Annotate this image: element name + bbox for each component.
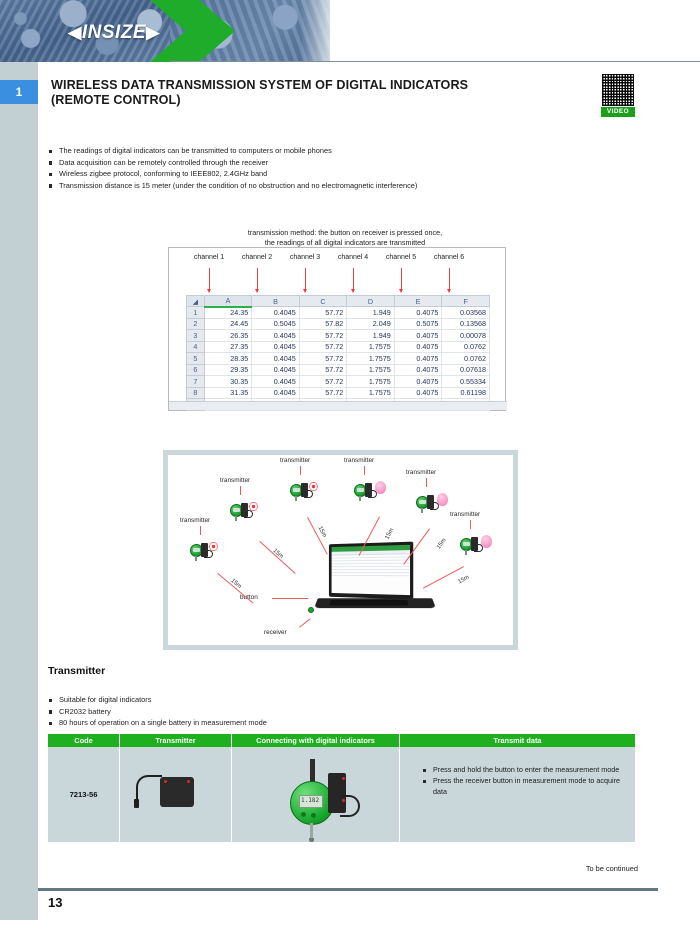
spreadsheet-cell-A6[interactable]: 29.35	[204, 364, 251, 376]
wireless-signal-icon: ⦿	[249, 500, 258, 513]
spreadsheet-cell-C8[interactable]: 57.72	[299, 387, 346, 399]
spreadsheet-cell-F1[interactable]: 0.03568	[442, 307, 490, 319]
spreadsheet-cell-D8[interactable]: 1.7575	[347, 387, 395, 399]
spreadsheet-cell-A3[interactable]: 26.35	[204, 330, 251, 342]
list-item: Press and hold the button to enter the m…	[422, 765, 635, 775]
spreadsheet-row: 831.350.404557.721.75750.40750.61198	[187, 387, 490, 399]
channel-label: channel 6	[425, 254, 473, 261]
spreadsheet-cell-A7[interactable]: 30.35	[204, 376, 251, 388]
channel-label: channel 5	[377, 254, 425, 261]
section-title-transmitter: Transmitter	[48, 665, 105, 677]
channel-label: channel 1	[185, 254, 233, 261]
spreadsheet-cell-F2[interactable]: 0.13568	[442, 318, 490, 330]
list-item: Press the receiver button in measurement…	[422, 776, 635, 797]
spreadsheet-row: 124.350.404557.721.9490.40750.03568	[187, 307, 490, 319]
spreadsheet-cell-A1[interactable]: 24.35	[204, 307, 251, 319]
spreadsheet-cell-E3[interactable]: 0.4075	[394, 330, 442, 342]
cell-transmit-data: Press and hold the button to enter the m…	[400, 747, 635, 842]
indicator-probe	[465, 550, 467, 555]
spreadsheet-cell-A4[interactable]: 27.35	[204, 341, 251, 353]
logo-right-arrow-icon: ▶	[146, 23, 160, 43]
laptop-base	[314, 598, 436, 608]
indicator-probe	[310, 823, 313, 839]
left-margin-strip	[0, 62, 38, 920]
transmitter-label: transmitter	[280, 457, 310, 464]
page-title: WIRELESS DATA TRANSMISSION SYSTEM OF DIG…	[51, 78, 521, 108]
logo-left-arrow-icon: ◀	[68, 23, 82, 43]
spreadsheet-column-header-A[interactable]: A	[204, 296, 251, 307]
list-item: CR2032 battery	[48, 707, 448, 718]
spreadsheet-cell-D5[interactable]: 1.7575	[347, 353, 395, 365]
spreadsheet-cell-B2[interactable]: 0.5045	[252, 318, 300, 330]
banner-divider	[170, 61, 700, 62]
receiver-device	[308, 607, 314, 613]
spreadsheet-cell-C4[interactable]: 57.72	[299, 341, 346, 353]
wireless-signal-icon: ⦿	[209, 540, 218, 553]
transmitter-feature-list: Suitable for digital indicators CR2032 b…	[48, 695, 448, 730]
transmitter-leader-line	[470, 520, 471, 529]
transmitter-label: transmitter	[180, 517, 210, 524]
spreadsheet-cell-E6[interactable]: 0.4075	[394, 364, 442, 376]
spreadsheet-cell-D6[interactable]: 1.7575	[347, 364, 395, 376]
column-header-code: Code	[48, 734, 120, 747]
spreadsheet-cell-D7[interactable]: 1.7575	[347, 376, 395, 388]
qr-code-icon	[601, 73, 635, 107]
spreadsheet-cell-A8[interactable]: 31.35	[204, 387, 251, 399]
network-diagram: button receiver transmitter⦿transmitter⦿…	[163, 450, 518, 650]
channel-pointer-arrow-icon	[257, 268, 258, 290]
led-indicator-icon	[342, 777, 345, 780]
product-table-header: Code Transmitter Connecting with digital…	[48, 734, 635, 747]
distance-label: 15m	[436, 538, 448, 551]
spreadsheet-cell-B8[interactable]: 0.4045	[252, 387, 300, 399]
spreadsheet-cell-B7[interactable]: 0.4045	[252, 376, 300, 388]
video-badge-label: VIDEO	[601, 107, 635, 117]
spreadsheet-cell-D4[interactable]: 1.7575	[347, 341, 395, 353]
transmitter-leader-line	[426, 478, 427, 487]
spreadsheet-corner-cell[interactable]: ◢	[187, 296, 205, 307]
channel-pointer-arrow-icon	[305, 268, 306, 290]
list-item: Data acquisition can be remotely control…	[48, 158, 468, 169]
distance-label: 15m	[229, 578, 242, 590]
spreadsheet-cell-E1[interactable]: 0.4075	[394, 307, 442, 319]
transmitter-leader-line	[240, 486, 241, 495]
channel-label-row: channel 1channel 2channel 3channel 4chan…	[169, 254, 507, 268]
spreadsheet-cell-F3[interactable]: 0.00078	[442, 330, 490, 342]
wireless-signal-icon: ⦿	[309, 480, 318, 493]
spreadsheet-row-header[interactable]: 3	[187, 330, 205, 342]
spreadsheet-row-header[interactable]: 2	[187, 318, 205, 330]
indicator-probe	[295, 496, 297, 501]
page-title-line2: (REMOTE CONTROL)	[51, 93, 521, 108]
logo-text: INSIZE	[82, 22, 146, 44]
spreadsheet-row: 528.350.404557.721.75750.40750.0762	[187, 353, 490, 365]
spreadsheet-column-header-D[interactable]: D	[347, 296, 395, 307]
transmitter-cable	[136, 775, 162, 801]
spreadsheet-cell-E8[interactable]: 0.4075	[394, 387, 442, 399]
table-row: 7213-56 1.182	[48, 747, 635, 842]
measurement-target-icon	[437, 493, 448, 506]
spreadsheet-row: 427.350.404557.721.75750.40750.0762	[187, 341, 490, 353]
spreadsheet-row-header[interactable]: 4	[187, 341, 205, 353]
spreadsheet-table: ◢ABCDEF 124.350.404557.721.9490.40750.03…	[186, 295, 490, 411]
spreadsheet-cell-A5[interactable]: 28.35	[204, 353, 251, 365]
column-header-transmitter: Transmitter	[120, 734, 232, 747]
distance-label: 15m	[384, 527, 395, 540]
indicator-lcd	[463, 542, 470, 546]
transmitter-device-icon	[460, 537, 482, 553]
spreadsheet-figure: channel 1channel 2channel 3channel 4chan…	[168, 247, 506, 411]
measurement-target-icon	[375, 481, 386, 494]
channel-label: channel 4	[329, 254, 377, 261]
spreadsheet-caption-line1: transmission method: the button on recei…	[180, 228, 510, 238]
list-item: Wireless zigbee protocol, conforming to …	[48, 169, 468, 180]
spreadsheet-cell-C6[interactable]: 57.72	[299, 364, 346, 376]
spreadsheet-cell-C7[interactable]: 57.72	[299, 376, 346, 388]
distance-label: 15m	[457, 575, 470, 586]
column-header-connecting: Connecting with digital indicators	[232, 734, 400, 747]
spreadsheet-cell-F4[interactable]: 0.0762	[442, 341, 490, 353]
spreadsheet-cell-D1[interactable]: 1.949	[347, 307, 395, 319]
distance-label: 15m	[271, 548, 284, 560]
led-indicator-icon	[187, 780, 190, 783]
spreadsheet-row-header[interactable]: 8	[187, 387, 205, 399]
network-diagram-canvas: button receiver transmitter⦿transmitter⦿…	[168, 455, 513, 645]
channel-label: channel 2	[233, 254, 281, 261]
spreadsheet-cell-B4[interactable]: 0.4045	[252, 341, 300, 353]
indicator-probe	[359, 496, 361, 501]
transmitter-leader-line	[200, 526, 201, 535]
spreadsheet-column-header-E[interactable]: E	[394, 296, 442, 307]
spreadsheet-cell-C5[interactable]: 57.72	[299, 353, 346, 365]
channel-pointer-arrow-icon	[353, 268, 354, 290]
indicator-button-icon	[301, 812, 306, 817]
connection-cable	[340, 795, 360, 817]
spreadsheet-cell-F5[interactable]: 0.0762	[442, 353, 490, 365]
indicator-button-icon	[311, 813, 316, 818]
catalog-page: ◀INSIZE▶ 1 WIRELESS DATA TRANSMISSION SY…	[0, 0, 700, 943]
list-item: The readings of digital indicators can b…	[48, 146, 468, 157]
transmitter-device-icon	[354, 483, 376, 499]
indicator-lcd	[293, 488, 300, 492]
column-header-transmit-data: Transmit data	[400, 734, 635, 747]
cell-transmitter-photo	[120, 747, 232, 842]
spreadsheet-row: 629.350.404557.721.75750.40750.07618	[187, 364, 490, 376]
list-item: Transmission distance is 15 meter (under…	[48, 181, 468, 192]
spreadsheet-body: 124.350.404557.721.9490.40750.03568224.4…	[187, 307, 490, 411]
spreadsheet-cell-D2[interactable]: 2.049	[347, 318, 395, 330]
chapter-number-tab: 1	[0, 80, 38, 104]
page-title-line1: WIRELESS DATA TRANSMISSION SYSTEM OF DIG…	[51, 78, 521, 93]
list-item: Suitable for digital indicators	[48, 695, 448, 706]
feature-list: The readings of digital indicators can b…	[48, 146, 468, 192]
indicator-probe	[421, 508, 423, 513]
channel-label: channel 3	[281, 254, 329, 261]
page-number: 13	[48, 895, 62, 910]
spreadsheet-header-row: ◢ABCDEF	[187, 296, 490, 307]
spreadsheet-row: 730.350.404557.721.75750.40750.55334	[187, 376, 490, 388]
transmitter-label: transmitter	[450, 511, 480, 518]
spreadsheet-cell-E2[interactable]: 0.5075	[394, 318, 442, 330]
spreadsheet-cell-F7[interactable]: 0.55334	[442, 376, 490, 388]
measurement-target-icon	[481, 535, 492, 548]
footer-divider	[38, 888, 658, 891]
spreadsheet-cell-B6[interactable]: 0.4045	[252, 364, 300, 376]
spreadsheet-row-header[interactable]: 1	[187, 307, 205, 319]
spreadsheet-column-header-B[interactable]: B	[252, 296, 300, 307]
indicator-probe	[195, 556, 197, 561]
spreadsheet-cell-F8[interactable]: 0.61198	[442, 387, 490, 399]
channel-pointer-arrow-icon	[209, 268, 210, 290]
list-item: 80 hours of operation on a single batter…	[48, 718, 448, 729]
transmitter-module-image	[160, 777, 194, 807]
spreadsheet-cell-C1[interactable]: 57.72	[299, 307, 346, 319]
spreadsheet-column-header-F[interactable]: F	[442, 296, 490, 307]
spreadsheet-cell-C3[interactable]: 57.72	[299, 330, 346, 342]
spreadsheet-status-bar	[169, 401, 507, 410]
digital-indicator-image: 1.182	[290, 759, 362, 837]
receiver-label: receiver	[264, 629, 287, 636]
receiver-leader-line	[299, 618, 311, 627]
led-indicator-icon	[164, 780, 167, 783]
spreadsheet-cell-B3[interactable]: 0.4045	[252, 330, 300, 342]
spreadsheet-row-header[interactable]: 7	[187, 376, 205, 388]
button-leader-line	[272, 598, 308, 599]
spreadsheet-row: 224.450.504557.822.0490.50750.13568	[187, 318, 490, 330]
spreadsheet-cell-C2[interactable]: 57.82	[299, 318, 346, 330]
channel-pointer-arrow-icon	[401, 268, 402, 290]
spreadsheet-caption: transmission method: the button on recei…	[180, 228, 510, 248]
laptop-lid	[329, 542, 413, 600]
laptop-screen	[332, 545, 410, 595]
page-banner: ◀INSIZE▶	[0, 0, 700, 62]
indicator-lcd	[193, 548, 200, 552]
insize-logo: ◀INSIZE▶	[58, 22, 170, 44]
spreadsheet-cell-E7[interactable]: 0.4075	[394, 376, 442, 388]
spreadsheet-cell-B5[interactable]: 0.4045	[252, 353, 300, 365]
to-be-continued-note: To be continued	[586, 864, 638, 873]
laptop-keyboard	[329, 600, 408, 606]
spreadsheet-row-header[interactable]: 5	[187, 353, 205, 365]
spreadsheet-row-header[interactable]: 6	[187, 364, 205, 376]
transmitter-label: transmitter	[406, 469, 436, 476]
transmitter-leader-line	[364, 466, 365, 475]
spreadsheet-row: 326.350.404557.721.9490.40750.00078	[187, 330, 490, 342]
spreadsheet-cell-B1[interactable]: 0.4045	[252, 307, 300, 319]
spreadsheet-cell-A2[interactable]: 24.45	[204, 318, 251, 330]
indicator-tip	[309, 838, 314, 842]
cell-connecting-photo: 1.182	[232, 747, 400, 842]
spreadsheet-column-header-C[interactable]: C	[299, 296, 346, 307]
spreadsheet-cell-F6[interactable]: 0.07618	[442, 364, 490, 376]
indicator-lcd	[233, 508, 240, 512]
indicator-probe	[235, 516, 237, 521]
video-qr-badge[interactable]: VIDEO	[601, 73, 635, 117]
indicator-lcd	[419, 500, 426, 504]
transmitter-label: transmitter	[344, 457, 374, 464]
transmitter-plug	[134, 799, 139, 808]
transmitter-device-icon	[416, 495, 438, 511]
spreadsheet-cell-E5[interactable]: 0.4075	[394, 353, 442, 365]
spreadsheet-cell-D3[interactable]: 1.949	[347, 330, 395, 342]
laptop-illustration	[316, 543, 434, 619]
indicator-lcd	[357, 488, 364, 492]
cell-product-code: 7213-56	[48, 747, 120, 842]
indicator-post	[310, 759, 315, 783]
transmitter-label: transmitter	[220, 477, 250, 484]
banner-fade	[300, 0, 340, 62]
channel-pointer-arrow-icon	[449, 268, 450, 290]
screen-grid-row	[332, 573, 410, 576]
transmitter-leader-line	[300, 466, 301, 475]
spreadsheet-cell-E4[interactable]: 0.4075	[394, 341, 442, 353]
product-table: Code Transmitter Connecting with digital…	[48, 734, 635, 842]
indicator-lcd-value: 1.182	[301, 797, 319, 804]
